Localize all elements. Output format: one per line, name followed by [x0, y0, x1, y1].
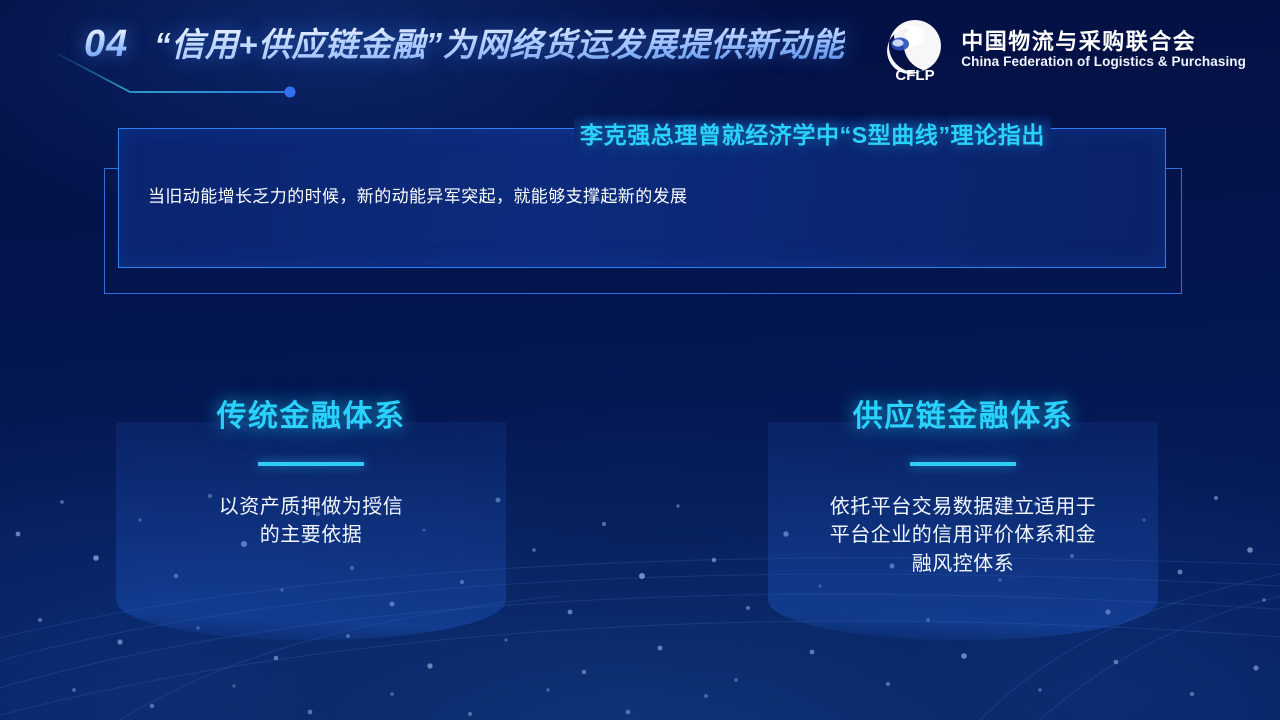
- card-title: 供应链金融体系: [768, 392, 1158, 432]
- slide-header: 04 “信用+供应链金融”为网络货运发展提供新动能 CFLP: [0, 0, 1280, 104]
- cflp-mark-label: CFLP: [896, 67, 935, 84]
- card-body: 以资产质押做为授信的主要依据: [116, 493, 506, 550]
- card-supply-chain-finance: 供应链金融体系 依托平台交易数据建立适用于平台企业的信用评价体系和金融风控体系: [768, 392, 1158, 640]
- card-traditional-finance: 传统金融体系 以资产质押做为授信的主要依据: [116, 392, 506, 640]
- logo-text-block: 中国物流与采购联合会 China Federation of Logistics…: [961, 30, 1246, 70]
- logo-name-cn: 中国物流与采购联合会: [961, 30, 1246, 53]
- cflp-emblem-icon: CFLP: [879, 14, 951, 86]
- page-title: “信用+供应链金融”为网络货运发展提供新动能: [154, 18, 844, 66]
- quote-block: 李克强总理曾就经济学中“S型曲线”理论指出 当旧动能增长乏力的时候，新的动能异军…: [104, 128, 1184, 296]
- card-divider: [910, 462, 1016, 466]
- organization-logo: CFLP 中国物流与采购联合会 China Federation of Logi…: [879, 14, 1246, 86]
- logo-name-en: China Federation of Logistics & Purchasi…: [961, 55, 1246, 70]
- slide-title-row: 04 “信用+供应链金融”为网络货运发展提供新动能: [84, 18, 845, 66]
- card-divider: [258, 462, 364, 466]
- quote-body: 当旧动能增长乏力的时候，新的动能异军突起，就能够支撑起新的发展: [148, 182, 687, 207]
- slide-root: 04 “信用+供应链金融”为网络货运发展提供新动能 CFLP: [0, 0, 1280, 720]
- card-body: 依托平台交易数据建立适用于平台企业的信用评价体系和金融风控体系: [768, 493, 1158, 578]
- card-title: 传统金融体系: [116, 392, 506, 432]
- quote-heading: 李克强总理曾就经济学中“S型曲线”理论指出: [574, 114, 1051, 152]
- section-number: 04: [84, 23, 128, 66]
